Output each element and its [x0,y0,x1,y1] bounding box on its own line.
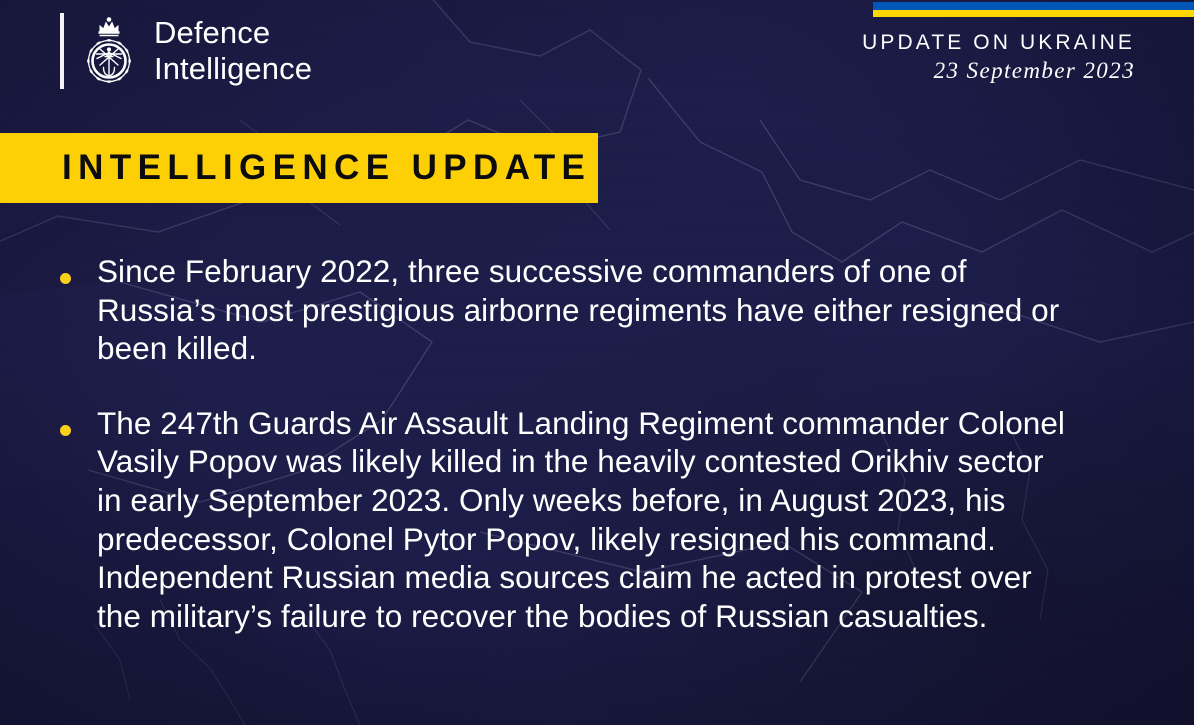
update-title: UPDATE ON UKRAINE [862,31,1135,55]
intelligence-update-poster: Defence Intelligence UPDATE ON UKRAINE 2… [0,0,1194,725]
bullet-text: The 247th Guards Air Assault Landing Reg… [97,404,1070,636]
flag-yellow-stripe [873,10,1194,18]
brand-divider-rule [60,13,64,89]
bullet-list: Since February 2022, three successive co… [60,252,1070,671]
header: Defence Intelligence UPDATE ON UKRAINE 2… [0,0,1194,110]
bullet-text: Since February 2022, three successive co… [97,252,1070,368]
brand-lockup: Defence Intelligence [60,12,312,90]
ukraine-flag-bar-icon [873,2,1194,17]
mod-tri-service-crest-icon [78,12,140,90]
bullet-dot-icon [60,273,71,284]
flag-blue-stripe [873,2,1194,10]
list-item: The 247th Guards Air Assault Landing Reg… [60,404,1070,636]
bullet-dot-icon [60,425,71,436]
list-item: Since February 2022, three successive co… [60,252,1070,368]
update-heading-block: UPDATE ON UKRAINE 23 September 2023 [862,31,1135,84]
intelligence-update-banner: INTELLIGENCE UPDATE [0,133,598,203]
banner-label: INTELLIGENCE UPDATE [62,148,591,188]
brand-wordmark: Defence Intelligence [154,15,312,87]
update-date: 23 September 2023 [862,58,1135,84]
brand-line-intelligence: Intelligence [154,51,312,87]
brand-line-defence: Defence [154,15,312,51]
